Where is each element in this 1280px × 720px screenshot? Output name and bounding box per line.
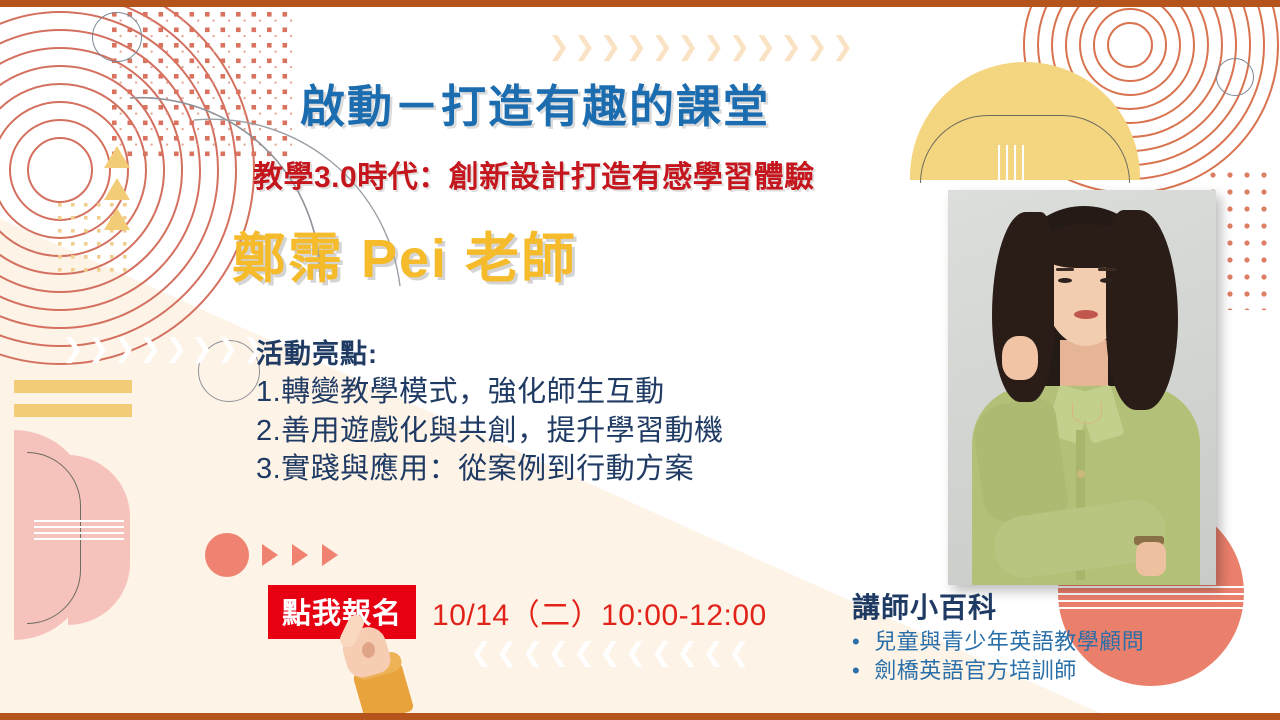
pointing-hand-icon <box>338 612 416 716</box>
portrait-raised-hand <box>1002 336 1038 380</box>
page-title: 啟動－打造有趣的課堂 <box>300 70 770 135</box>
highlights-title: 活動亮點: <box>256 332 724 371</box>
speaker-portrait <box>948 190 1216 585</box>
portrait-necklace <box>1072 402 1102 424</box>
bullet-icon: • <box>852 656 860 685</box>
bio-item-label: 劍橋英語官方培訓師 <box>874 656 1077 685</box>
bio-item-label: 兒童與青少年英語教學顧問 <box>874 627 1144 656</box>
bio-item: • 劍橋英語官方培訓師 <box>852 656 1144 685</box>
portrait-brow-left <box>1056 268 1074 271</box>
speaker-name: 鄭霈 Pei 老師 <box>232 214 577 293</box>
portrait-button-1 <box>1077 470 1085 478</box>
top-border-bar <box>0 0 1280 7</box>
highlight-item: 1.轉變教學模式，強化師生互動 <box>256 373 724 412</box>
page-subtitle: 教學3.0時代：創新設計打造有感學習體驗 <box>253 152 815 196</box>
portrait-lips <box>1074 310 1098 319</box>
portrait-upper-arm <box>970 397 1070 526</box>
bullet-icon: • <box>852 627 860 656</box>
bottom-border-bar <box>0 713 1280 720</box>
highlights-section: 活動亮點: 1.轉變教學模式，強化師生互動 2.善用遊戲化與共創，提升學習動機 … <box>256 332 724 489</box>
bio-item: • 兒童與青少年英語教學顧問 <box>852 627 1144 656</box>
portrait-brow-right <box>1098 268 1116 271</box>
hand-thumb <box>362 642 375 658</box>
event-poster: ❯ ❯ ❯ ❯ ❯ ❯ ❯ ❯ ❯ ❯ ❯ ❯ ❯ ❯ ❯ ❯ ❯ ❯ ❯ ❯ … <box>0 0 1280 720</box>
highlight-item: 3.實踐與應用：從案例到行動方案 <box>256 450 724 489</box>
event-datetime: 10/14（二）10:00-12:00 <box>432 590 767 634</box>
portrait-wrist <box>1136 542 1166 576</box>
portrait-eye-right <box>1100 278 1114 283</box>
portrait-eye-left <box>1058 278 1072 283</box>
highlight-item: 2.善用遊戲化與共創，提升學習動機 <box>256 412 724 451</box>
bio-title: 講師小百科 <box>852 586 1144 626</box>
speaker-bio-section: 講師小百科 • 兒童與青少年英語教學顧問 • 劍橋英語官方培訓師 <box>852 586 1144 685</box>
